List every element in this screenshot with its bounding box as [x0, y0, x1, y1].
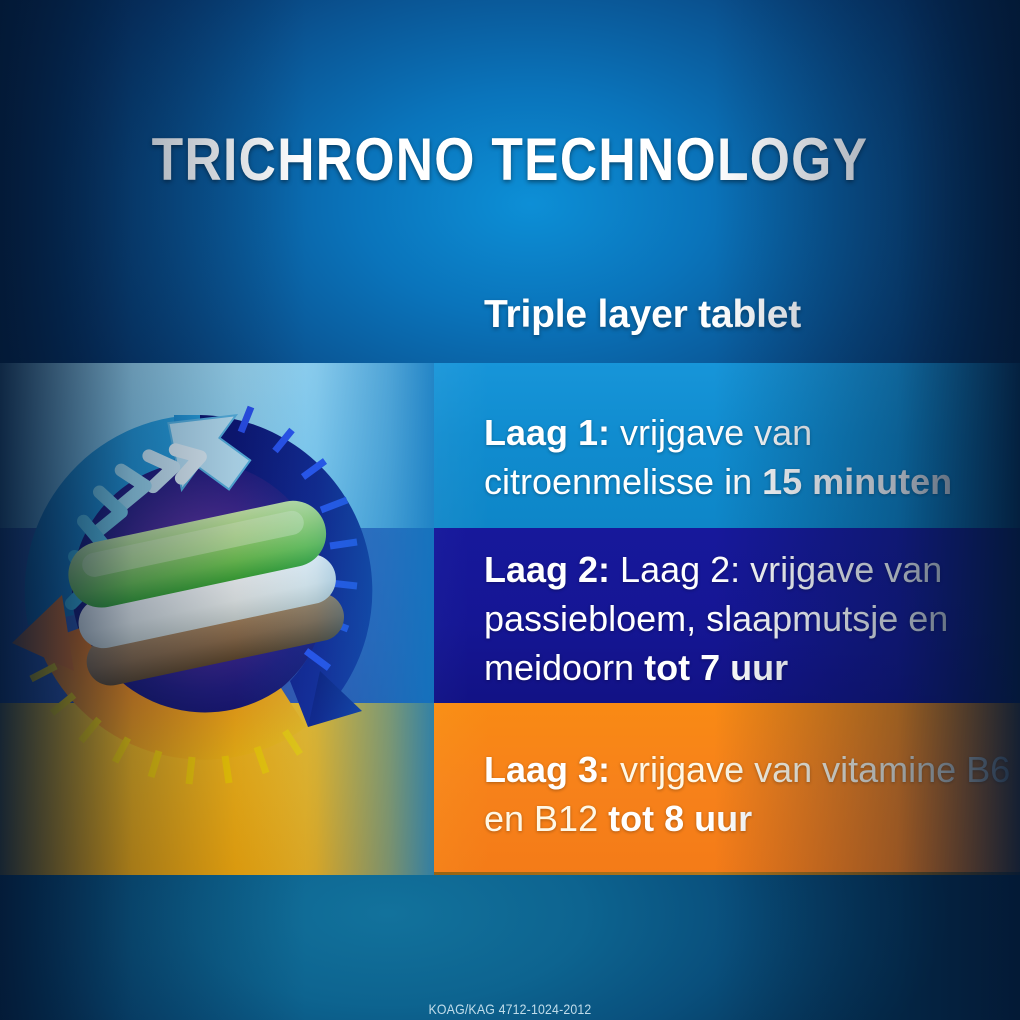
laag-3-highlight: tot 8 uur — [608, 798, 752, 839]
page-subtitle: Triple layer tablet — [484, 293, 801, 337]
laag-2-highlight: tot 7 uur — [644, 647, 788, 688]
laag-2-label: Laag 2: — [484, 549, 610, 590]
trichrono-cycle-diagram — [0, 363, 434, 875]
band-1-text: Laag 1: vrijgave van citroenmelisse in 1… — [484, 408, 1020, 506]
poster-canvas: TRICHRONO TECHNOLOGY Triple layer tablet — [0, 0, 1020, 1020]
cycle-ring — [0, 381, 410, 801]
laag-1-label: Laag 1: — [484, 412, 610, 453]
background-bottom-panel — [0, 872, 1020, 1020]
laag-1-highlight: 15 minuten — [762, 461, 952, 502]
band-2-text: Laag 2: Laag 2: vrijgave van passiebloem… — [484, 545, 1009, 692]
cycle-ring-svg — [0, 381, 410, 801]
band-3-text: Laag 3: vrijgave van vitamine B6 en B12 … — [484, 745, 1020, 843]
footer-code: KOAG/KAG 4712-1024-2012 — [61, 1001, 959, 1017]
page-title: TRICHRONO TECHNOLOGY — [71, 130, 948, 190]
laag-3-label: Laag 3: — [484, 749, 610, 790]
